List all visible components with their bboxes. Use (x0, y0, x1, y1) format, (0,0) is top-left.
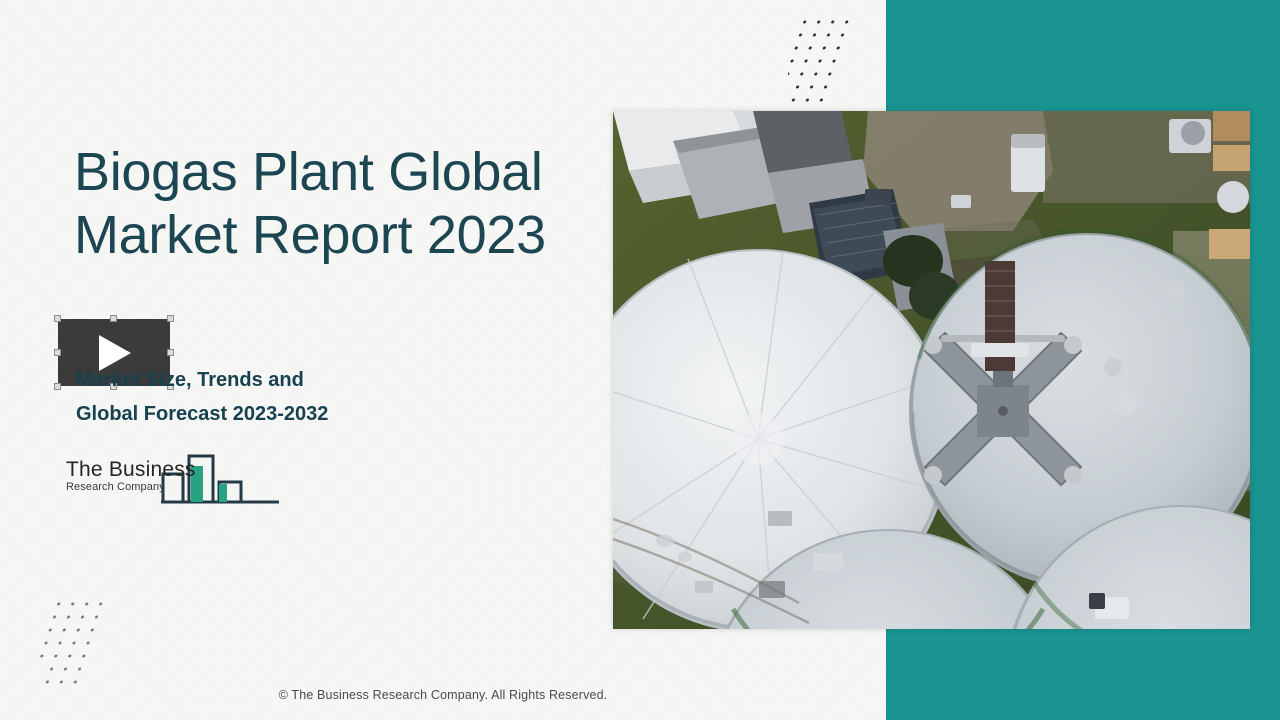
biogas-plant-photo (613, 111, 1250, 629)
logo-line-2: Research Company (66, 481, 196, 494)
resize-handle-top-left[interactable] (54, 315, 61, 322)
page-title: Biogas Plant Global Market Report 2023 (74, 141, 614, 267)
resize-handle-bottom-left[interactable] (54, 383, 61, 390)
resize-handle-top-center[interactable] (110, 315, 117, 322)
page-subtitle: Market Size, Trends and Global Forecast … (76, 363, 496, 431)
logo-line-1: The Business (66, 458, 196, 481)
resize-handle-middle-left[interactable] (54, 349, 61, 356)
copyright-footer: © The Business Research Company. All Rig… (0, 688, 886, 702)
resize-handle-middle-right[interactable] (167, 349, 174, 356)
presentation-slide: Biogas Plant Global Market Report 2023 M… (0, 0, 1280, 720)
company-logo: The Business Research Company (66, 452, 281, 514)
logo-text: The Business Research Company (66, 458, 196, 494)
resize-handle-top-right[interactable] (167, 315, 174, 322)
